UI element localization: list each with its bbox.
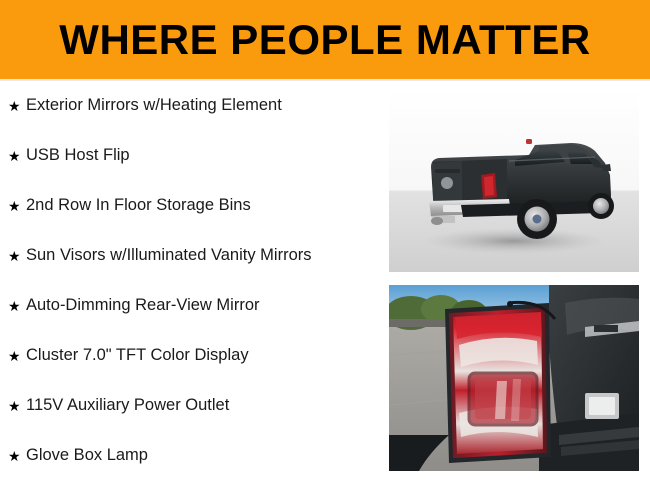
- list-item: ★ USB Host Flip: [0, 131, 385, 181]
- page-title: WHERE PEOPLE MATTER: [59, 19, 590, 61]
- feature-label: Auto-Dimming Rear-View Mirror: [26, 296, 260, 316]
- feature-label: 115V Auxiliary Power Outlet: [26, 396, 229, 416]
- star-icon: ★: [8, 299, 26, 313]
- star-icon: ★: [8, 449, 26, 463]
- star-icon: ★: [8, 249, 26, 263]
- list-item: ★ Glove Box Lamp: [0, 431, 385, 481]
- flyer-page: WHERE PEOPLE MATTER ★ Exterior Mirrors w…: [0, 0, 650, 488]
- list-item: ★ 115V Auxiliary Power Outlet: [0, 381, 385, 431]
- feature-label: Sun Visors w/Illuminated Vanity Mirrors: [26, 246, 312, 266]
- feature-list: ★ Exterior Mirrors w/Heating Element ★ U…: [0, 81, 385, 488]
- truck-photo-graphic: [389, 89, 639, 272]
- list-item: ★ Auto-Dimming Rear-View Mirror: [0, 281, 385, 331]
- list-item: ★ 2nd Row In Floor Storage Bins: [0, 181, 385, 231]
- photo-column: [389, 81, 639, 488]
- feature-label: Exterior Mirrors w/Heating Element: [26, 96, 282, 116]
- feature-label: 2nd Row In Floor Storage Bins: [26, 196, 251, 216]
- list-item: ★ Exterior Mirrors w/Heating Element: [0, 81, 385, 131]
- header-banner: WHERE PEOPLE MATTER: [0, 0, 650, 79]
- star-icon: ★: [8, 99, 26, 113]
- feature-label: Glove Box Lamp: [26, 446, 148, 466]
- truck-rear-three-quarter-photo: [389, 89, 639, 272]
- tail-light-photo-graphic: [389, 285, 639, 471]
- star-icon: ★: [8, 149, 26, 163]
- feature-label: Cluster 7.0" TFT Color Display: [26, 346, 249, 366]
- star-icon: ★: [8, 349, 26, 363]
- feature-label: USB Host Flip: [26, 146, 130, 166]
- tail-light-closeup-photo: [389, 285, 639, 471]
- content-area: ★ Exterior Mirrors w/Heating Element ★ U…: [0, 81, 650, 488]
- star-icon: ★: [8, 199, 26, 213]
- list-item: ★ Cluster 7.0" TFT Color Display: [0, 331, 385, 381]
- star-icon: ★: [8, 399, 26, 413]
- list-item: ★ Sun Visors w/Illuminated Vanity Mirror…: [0, 231, 385, 281]
